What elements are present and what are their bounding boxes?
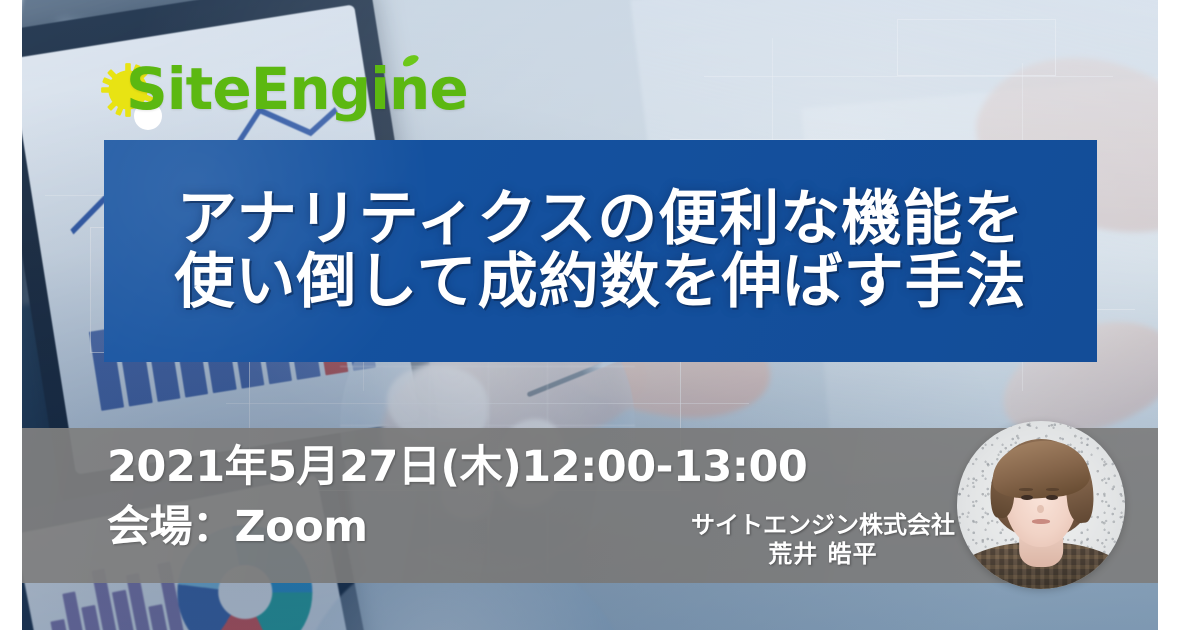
speaker-info: サイトエンジン株式会社 荒井 皓平 — [691, 512, 955, 568]
speaker-company: サイトエンジン株式会社 — [691, 512, 955, 540]
page-title-line-2: 使い倒して成約数を伸ばす手法 — [174, 252, 1026, 313]
avatar-nose — [1037, 505, 1044, 513]
event-venue: 会場：Zoom — [107, 506, 368, 549]
avatar-eye-left — [1021, 495, 1033, 500]
avatar — [957, 421, 1125, 589]
siteengine-logo[interactable]: SiteEngine — [104, 58, 468, 120]
avatar-mouth — [1032, 519, 1050, 523]
speaker-name: 荒井 皓平 — [691, 540, 955, 569]
banner-artwork: SiteEngine アナリティクスの便利な機能を 使い倒して成約数を伸ばす手法… — [22, 0, 1158, 630]
logo-text: SiteEngine — [104, 60, 468, 118]
event-datetime: 2021年5月27日(木)12:00-13:00 — [107, 446, 807, 489]
avatar-eyebrow-right — [1046, 488, 1059, 491]
title-band: アナリティクスの便利な機能を 使い倒して成約数を伸ばす手法 — [104, 140, 1097, 362]
webinar-banner-canvas: SiteEngine アナリティクスの便利な機能を 使い倒して成約数を伸ばす手法… — [0, 0, 1200, 630]
page-title-line-1: アナリティクスの便利な機能を — [177, 189, 1024, 250]
event-info-band: 2021年5月27日(木)12:00-13:00 会場：Zoom サイトエンジン… — [22, 428, 1158, 583]
avatar-eyebrow-left — [1019, 488, 1032, 491]
